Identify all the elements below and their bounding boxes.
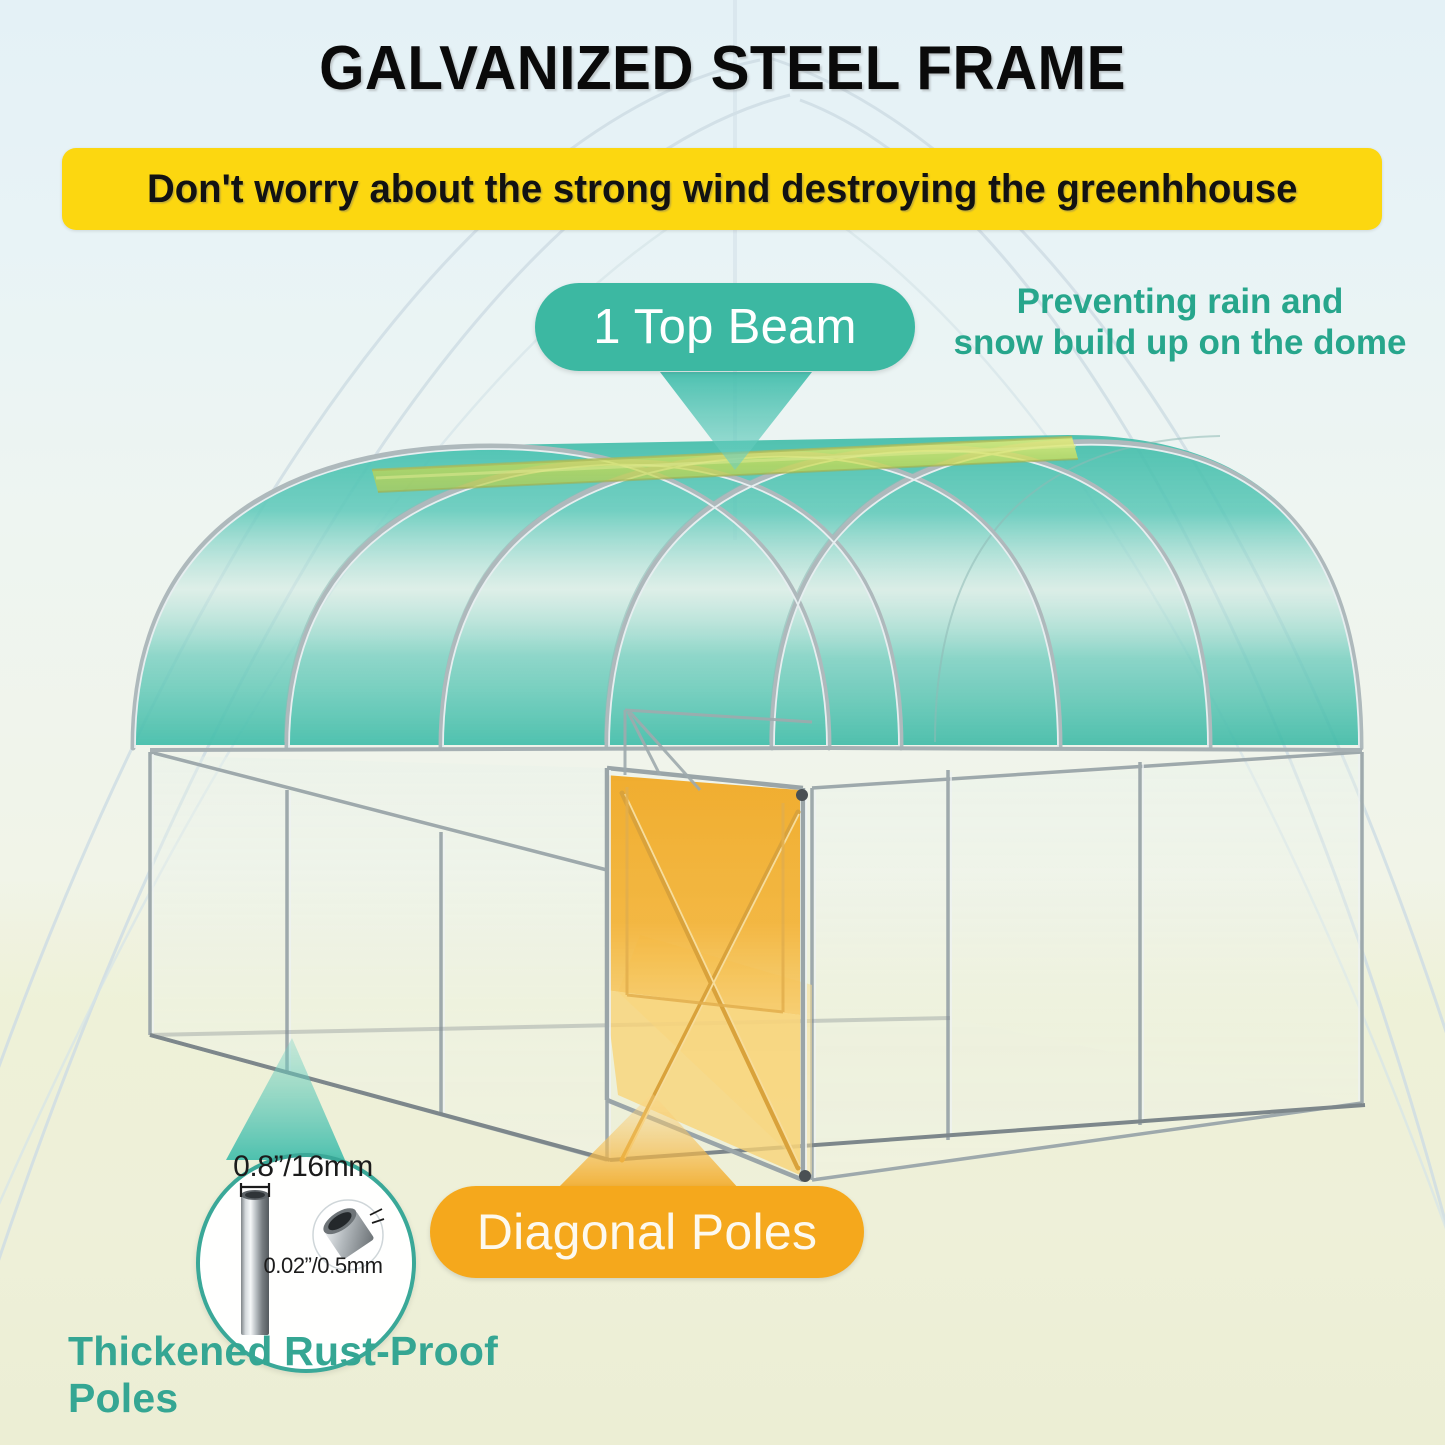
subhead-banner-text: Don't worry about the strong wind destro… [147,167,1298,212]
eave-rails [150,748,1362,750]
callout-diagonal-poles-label: Diagonal Poles [477,1203,818,1261]
pole-wall-thickness-label: 0.02”/0.5mm [228,1253,418,1279]
rain-snow-line-2: snow build up on the dome [930,323,1430,364]
subhead-banner: Don't worry about the strong wind destro… [62,148,1382,230]
rain-snow-line-1: Preventing rain and [930,282,1430,323]
callout-rust-proof-caption: Thickened Rust-Proof Poles [68,1328,588,1422]
callout-top-beam-label: 1 Top Beam [593,299,857,355]
door-panel [605,775,800,1015]
pole-diameter-label: 0.8”/16mm [208,1150,398,1184]
callout-diagonal-poles-badge[interactable]: Diagonal Poles [430,1186,864,1278]
callout-rain-snow-note: Preventing rain and snow build up on the… [930,282,1430,363]
page-title: GALVANIZED STEEL FRAME [43,36,1401,101]
callout-top-beam-badge[interactable]: 1 Top Beam [535,283,915,371]
door-hinge-top [796,789,808,801]
door-hinge-bottom [799,1170,811,1182]
pole-bore [245,1192,265,1199]
infographic-canvas: GALVANIZED STEEL FRAME Don't worry about… [0,0,1445,1445]
